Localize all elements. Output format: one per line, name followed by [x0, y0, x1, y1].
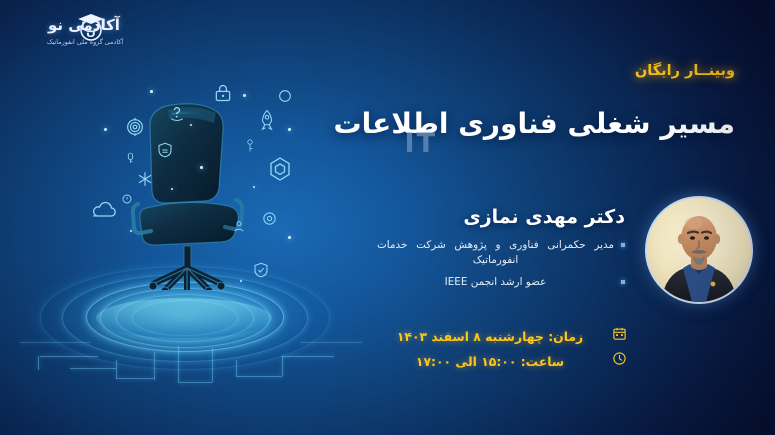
circuit-trace: [236, 360, 237, 376]
circuit-trace: [178, 346, 179, 382]
sparkle-dot: [171, 188, 173, 190]
sparkle-dot: [150, 90, 153, 93]
lock-icon: [213, 82, 233, 104]
sparkle-dot: [190, 124, 192, 126]
circuit-trace: [116, 378, 154, 379]
speaker-credentials: مدیر حکمرانی فناوری و پژوهش شرکت خدمات ا…: [377, 238, 625, 297]
speaker-name: دکتر مهدی نمازی: [463, 206, 625, 228]
circuit-trace: [116, 360, 117, 378]
kicker-free-webinar: وبینــار رایگان: [635, 63, 735, 79]
circle-icon: [277, 88, 293, 104]
circuit-trace: [70, 368, 116, 369]
page-title: مسیر شغلی فناوری اطلاعات: [334, 107, 736, 140]
page-title-en: IT: [405, 128, 437, 159]
circle-icon: [121, 193, 133, 205]
key-icon: [244, 137, 256, 155]
hexagon-cube-icon: [268, 156, 292, 182]
circuit-trace: [282, 356, 334, 357]
circuit-trace: [212, 348, 213, 382]
circuit-trace: [154, 352, 155, 380]
sparkle-dot: [243, 94, 246, 97]
sparkle-dot: [253, 186, 255, 188]
shield-check-icon: [252, 260, 270, 280]
speaker-portrait: [645, 196, 753, 304]
event-date-row: زمان: چهارشنبه ۸ اسفند ۱۴۰۳: [375, 326, 605, 343]
avatar: [647, 198, 751, 302]
hero-illustration: [0, 60, 380, 420]
list-item: مدیر حکمرانی فناوری و پژوهش شرکت خدمات ا…: [377, 238, 625, 268]
circuit-trace: [300, 342, 362, 343]
platform-disc: [96, 298, 272, 338]
brand-name: آکادمی نو: [24, 16, 144, 34]
sparkle-dot: [104, 128, 107, 131]
rocket-icon: [258, 108, 276, 134]
circuit-trace: [38, 356, 39, 370]
question-mark-icon: [167, 102, 187, 124]
circuit-trace: [236, 376, 282, 377]
person-icon: [232, 218, 246, 234]
cloud-icon: [90, 200, 118, 220]
sparkle-dot: [130, 230, 132, 232]
event-meta: زمان: چهارشنبه ۸ اسفند ۱۴۰۳ ساعت: ۱۵:۰۰ …: [375, 326, 605, 376]
fingerprint-icon: [124, 116, 146, 138]
calendar-icon: [612, 326, 627, 341]
circuit-trace: [178, 382, 212, 383]
webinar-banner: ن آکادمی نو آکادمی گروه ملی انفورماتیک و…: [0, 0, 775, 435]
circuit-trace: [20, 342, 90, 343]
circuit-trace: [40, 356, 98, 357]
asterisk-icon: [136, 170, 154, 188]
sparkle-dot: [288, 236, 291, 239]
event-date: زمان: چهارشنبه ۸ اسفند ۱۴۰۳: [397, 329, 583, 344]
sparkle-dot: [288, 128, 291, 131]
brand-logo[interactable]: ن آکادمی نو آکادمی گروه ملی انفورماتیک: [14, 8, 154, 54]
event-time-row: ساعت: ۱۵:۰۰ الی ۱۷:۰۰: [375, 351, 605, 368]
circle-icon: [261, 210, 278, 227]
office-chair: [128, 100, 248, 290]
shield-icon: [156, 140, 174, 160]
list-item: عضو ارشد انجمن IEEE: [377, 275, 625, 290]
key-icon: [124, 150, 137, 166]
sparkle-dot: [240, 280, 242, 282]
clock-icon: [612, 351, 627, 366]
brand-subtitle: آکادمی گروه ملی انفورماتیک: [16, 38, 154, 46]
sparkle-dot: [200, 166, 203, 169]
circuit-trace: [282, 356, 283, 376]
event-time: ساعت: ۱۵:۰۰ الی ۱۷:۰۰: [416, 354, 564, 369]
